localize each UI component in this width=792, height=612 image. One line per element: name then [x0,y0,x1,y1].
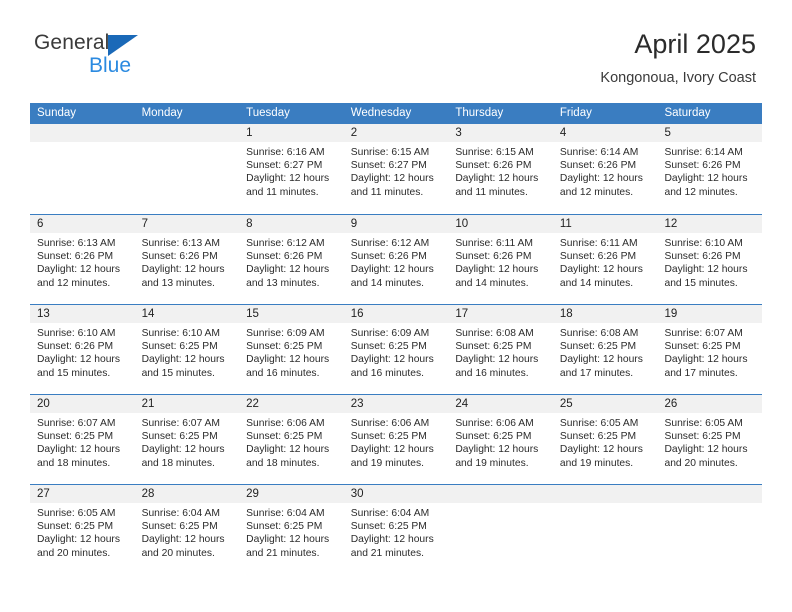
day-number: 6 [30,215,135,233]
sunrise-text: Sunrise: 6:15 AM [351,146,443,159]
day-sun-info: Sunrise: 6:04 AMSunset: 6:25 PMDaylight:… [239,503,344,560]
sunset-text: Sunset: 6:27 PM [351,159,443,172]
daylight-text-line2: and 14 minutes. [351,277,443,290]
sunset-text: Sunset: 6:25 PM [37,520,129,533]
daylight-text-line1: Daylight: 12 hours [664,443,756,456]
daylight-text-line2: and 20 minutes. [142,547,234,560]
day-number-band: 2 [344,124,449,142]
calendar-week-row: 20Sunrise: 6:07 AMSunset: 6:25 PMDayligh… [30,394,762,484]
calendar-day-cell-empty [448,485,553,574]
day-number: 13 [30,305,135,323]
daylight-text-line2: and 18 minutes. [246,457,338,470]
calendar-day-cell[interactable]: 30Sunrise: 6:04 AMSunset: 6:25 PMDayligh… [344,485,449,574]
sunset-text: Sunset: 6:26 PM [664,159,756,172]
day-number: 10 [448,215,553,233]
daylight-text-line2: and 16 minutes. [246,367,338,380]
daylight-text-line2: and 19 minutes. [455,457,547,470]
sunrise-text: Sunrise: 6:07 AM [142,417,234,430]
weekday-header-tuesday: Tuesday [239,103,344,124]
day-sun-info: Sunrise: 6:16 AMSunset: 6:27 PMDaylight:… [239,142,344,199]
calendar-day-cell[interactable]: 24Sunrise: 6:06 AMSunset: 6:25 PMDayligh… [448,395,553,484]
sunset-text: Sunset: 6:25 PM [455,430,547,443]
calendar-day-cell[interactable]: 8Sunrise: 6:12 AMSunset: 6:26 PMDaylight… [239,215,344,304]
day-sun-info: Sunrise: 6:11 AMSunset: 6:26 PMDaylight:… [448,233,553,290]
sunset-text: Sunset: 6:25 PM [455,340,547,353]
day-sun-info: Sunrise: 6:04 AMSunset: 6:25 PMDaylight:… [135,503,240,560]
calendar-day-cell[interactable]: 22Sunrise: 6:06 AMSunset: 6:25 PMDayligh… [239,395,344,484]
day-sun-info: Sunrise: 6:05 AMSunset: 6:25 PMDaylight:… [30,503,135,560]
sunset-text: Sunset: 6:26 PM [664,250,756,263]
calendar-day-cell[interactable]: 14Sunrise: 6:10 AMSunset: 6:25 PMDayligh… [135,305,240,394]
day-number-band: 19 [657,305,762,323]
daylight-text-line2: and 13 minutes. [142,277,234,290]
day-sun-info: Sunrise: 6:15 AMSunset: 6:26 PMDaylight:… [448,142,553,199]
calendar-day-cell[interactable]: 28Sunrise: 6:04 AMSunset: 6:25 PMDayligh… [135,485,240,574]
day-sun-info: Sunrise: 6:07 AMSunset: 6:25 PMDaylight:… [657,323,762,380]
sunrise-text: Sunrise: 6:08 AM [455,327,547,340]
day-number-band: 15 [239,305,344,323]
day-number-band [135,124,240,142]
sunset-text: Sunset: 6:25 PM [560,430,652,443]
day-number: 25 [553,395,658,413]
sunrise-text: Sunrise: 6:05 AM [560,417,652,430]
day-sun-info: Sunrise: 6:14 AMSunset: 6:26 PMDaylight:… [657,142,762,199]
calendar-grid: Sunday Monday Tuesday Wednesday Thursday… [30,103,762,574]
daylight-text-line1: Daylight: 12 hours [455,443,547,456]
sunrise-text: Sunrise: 6:10 AM [664,237,756,250]
day-number-band [30,124,135,142]
day-number: 29 [239,485,344,503]
daylight-text-line1: Daylight: 12 hours [142,353,234,366]
day-number-band: 18 [553,305,658,323]
daylight-text-line1: Daylight: 12 hours [246,533,338,546]
daylight-text-line2: and 20 minutes. [664,457,756,470]
daylight-text-line2: and 15 minutes. [37,367,129,380]
sunrise-text: Sunrise: 6:10 AM [142,327,234,340]
calendar-day-cell[interactable]: 3Sunrise: 6:15 AMSunset: 6:26 PMDaylight… [448,124,553,214]
day-sun-info: Sunrise: 6:13 AMSunset: 6:26 PMDaylight:… [30,233,135,290]
calendar-day-cell[interactable]: 1Sunrise: 6:16 AMSunset: 6:27 PMDaylight… [239,124,344,214]
sunset-text: Sunset: 6:26 PM [246,250,338,263]
day-number-band: 29 [239,485,344,503]
sunset-text: Sunset: 6:26 PM [455,159,547,172]
weekday-header-thursday: Thursday [448,103,553,124]
daylight-text-line2: and 15 minutes. [142,367,234,380]
day-sun-info: Sunrise: 6:11 AMSunset: 6:26 PMDaylight:… [553,233,658,290]
daylight-text-line1: Daylight: 12 hours [142,263,234,276]
sunset-text: Sunset: 6:26 PM [37,340,129,353]
day-sun-info: Sunrise: 6:10 AMSunset: 6:25 PMDaylight:… [135,323,240,380]
sunset-text: Sunset: 6:26 PM [455,250,547,263]
page-title: April 2025 [600,28,756,60]
title-block: April 2025 Kongonoua, Ivory Coast [600,28,756,88]
day-number: 2 [344,124,449,142]
sunrise-text: Sunrise: 6:14 AM [560,146,652,159]
day-number: 19 [657,305,762,323]
calendar-weeks: 1Sunrise: 6:16 AMSunset: 6:27 PMDaylight… [30,124,762,574]
calendar-page: General Blue April 2025 Kongonoua, Ivory… [0,0,792,612]
daylight-text-line1: Daylight: 12 hours [664,172,756,185]
logo-triangle-icon [108,35,138,56]
sunset-text: Sunset: 6:25 PM [246,430,338,443]
daylight-text-line1: Daylight: 12 hours [455,353,547,366]
day-number: 11 [553,215,658,233]
day-sun-info: Sunrise: 6:06 AMSunset: 6:25 PMDaylight:… [239,413,344,470]
daylight-text-line1: Daylight: 12 hours [246,443,338,456]
sunset-text: Sunset: 6:25 PM [142,520,234,533]
daylight-text-line1: Daylight: 12 hours [246,172,338,185]
sunset-text: Sunset: 6:25 PM [351,430,443,443]
sunset-text: Sunset: 6:25 PM [351,520,443,533]
daylight-text-line2: and 19 minutes. [351,457,443,470]
sunrise-text: Sunrise: 6:07 AM [37,417,129,430]
day-sun-info: Sunrise: 6:12 AMSunset: 6:26 PMDaylight:… [239,233,344,290]
sunset-text: Sunset: 6:26 PM [351,250,443,263]
daylight-text-line1: Daylight: 12 hours [142,443,234,456]
daylight-text-line1: Daylight: 12 hours [351,172,443,185]
daylight-text-line1: Daylight: 12 hours [455,172,547,185]
sunrise-text: Sunrise: 6:04 AM [246,507,338,520]
day-number-band: 17 [448,305,553,323]
day-number-band: 26 [657,395,762,413]
calendar-day-cell[interactable]: 9Sunrise: 6:12 AMSunset: 6:26 PMDaylight… [344,215,449,304]
sunrise-text: Sunrise: 6:09 AM [351,327,443,340]
daylight-text-line1: Daylight: 12 hours [560,443,652,456]
daylight-text-line2: and 14 minutes. [455,277,547,290]
weekday-header-monday: Monday [135,103,240,124]
day-number-band: 16 [344,305,449,323]
sunset-text: Sunset: 6:25 PM [246,340,338,353]
day-number: 5 [657,124,762,142]
sunrise-text: Sunrise: 6:05 AM [37,507,129,520]
daylight-text-line2: and 17 minutes. [560,367,652,380]
day-number-band: 28 [135,485,240,503]
day-number-band: 23 [344,395,449,413]
day-number-band: 9 [344,215,449,233]
daylight-text-line1: Daylight: 12 hours [351,443,443,456]
daylight-text-line2: and 14 minutes. [560,277,652,290]
daylight-text-line1: Daylight: 12 hours [560,263,652,276]
calendar-day-cell[interactable]: 4Sunrise: 6:14 AMSunset: 6:26 PMDaylight… [553,124,658,214]
sunrise-text: Sunrise: 6:07 AM [664,327,756,340]
calendar-day-cell[interactable]: 20Sunrise: 6:07 AMSunset: 6:25 PMDayligh… [30,395,135,484]
daylight-text-line1: Daylight: 12 hours [37,263,129,276]
daylight-text-line2: and 13 minutes. [246,277,338,290]
day-number-band: 22 [239,395,344,413]
location-subtitle: Kongonoua, Ivory Coast [600,68,756,88]
sunset-text: Sunset: 6:26 PM [560,159,652,172]
calendar-week-row: 1Sunrise: 6:16 AMSunset: 6:27 PMDaylight… [30,124,762,214]
day-number-band: 27 [30,485,135,503]
day-number-band: 10 [448,215,553,233]
sunrise-text: Sunrise: 6:06 AM [351,417,443,430]
day-number: 18 [553,305,658,323]
daylight-text-line1: Daylight: 12 hours [246,353,338,366]
calendar-day-cell[interactable]: 23Sunrise: 6:06 AMSunset: 6:25 PMDayligh… [344,395,449,484]
daylight-text-line1: Daylight: 12 hours [664,353,756,366]
calendar-day-cell[interactable]: 25Sunrise: 6:05 AMSunset: 6:25 PMDayligh… [553,395,658,484]
sunrise-text: Sunrise: 6:04 AM [142,507,234,520]
day-number-band: 30 [344,485,449,503]
day-number: 12 [657,215,762,233]
day-number: 8 [239,215,344,233]
general-blue-logo[interactable]: General Blue [34,31,164,83]
day-sun-info: Sunrise: 6:04 AMSunset: 6:25 PMDaylight:… [344,503,449,560]
day-sun-info: Sunrise: 6:13 AMSunset: 6:26 PMDaylight:… [135,233,240,290]
sunset-text: Sunset: 6:26 PM [560,250,652,263]
daylight-text-line2: and 21 minutes. [246,547,338,560]
daylight-text-line1: Daylight: 12 hours [351,353,443,366]
day-number-band: 7 [135,215,240,233]
day-number-band: 3 [448,124,553,142]
sunrise-text: Sunrise: 6:10 AM [37,327,129,340]
daylight-text-line1: Daylight: 12 hours [560,353,652,366]
day-sun-info: Sunrise: 6:09 AMSunset: 6:25 PMDaylight:… [239,323,344,380]
calendar-day-cell[interactable]: 15Sunrise: 6:09 AMSunset: 6:25 PMDayligh… [239,305,344,394]
weekday-header-row: Sunday Monday Tuesday Wednesday Thursday… [30,103,762,124]
calendar-day-cell[interactable]: 18Sunrise: 6:08 AMSunset: 6:25 PMDayligh… [553,305,658,394]
day-number-band: 14 [135,305,240,323]
daylight-text-line2: and 15 minutes. [664,277,756,290]
day-number: 14 [135,305,240,323]
day-number: 22 [239,395,344,413]
daylight-text-line1: Daylight: 12 hours [664,263,756,276]
day-sun-info: Sunrise: 6:12 AMSunset: 6:26 PMDaylight:… [344,233,449,290]
day-number: 3 [448,124,553,142]
daylight-text-line2: and 11 minutes. [455,186,547,199]
day-number: 7 [135,215,240,233]
calendar-day-cell[interactable]: 27Sunrise: 6:05 AMSunset: 6:25 PMDayligh… [30,485,135,574]
calendar-day-cell-empty [657,485,762,574]
day-sun-info: Sunrise: 6:07 AMSunset: 6:25 PMDaylight:… [30,413,135,470]
sunrise-text: Sunrise: 6:04 AM [351,507,443,520]
day-sun-info: Sunrise: 6:14 AMSunset: 6:26 PMDaylight:… [553,142,658,199]
weekday-header-wednesday: Wednesday [344,103,449,124]
daylight-text-line2: and 11 minutes. [246,186,338,199]
sunset-text: Sunset: 6:27 PM [246,159,338,172]
calendar-day-cell[interactable]: 21Sunrise: 6:07 AMSunset: 6:25 PMDayligh… [135,395,240,484]
calendar-day-cell[interactable]: 29Sunrise: 6:04 AMSunset: 6:25 PMDayligh… [239,485,344,574]
logo-text-blue: Blue [89,54,131,78]
sunset-text: Sunset: 6:26 PM [37,250,129,263]
day-number-band: 12 [657,215,762,233]
calendar-day-cell[interactable]: 13Sunrise: 6:10 AMSunset: 6:26 PMDayligh… [30,305,135,394]
weekday-header-saturday: Saturday [657,103,762,124]
day-number-band: 4 [553,124,658,142]
sunrise-text: Sunrise: 6:08 AM [560,327,652,340]
calendar-week-row: 27Sunrise: 6:05 AMSunset: 6:25 PMDayligh… [30,484,762,574]
day-number-band: 5 [657,124,762,142]
day-number-band: 24 [448,395,553,413]
sunrise-text: Sunrise: 6:12 AM [246,237,338,250]
day-number: 9 [344,215,449,233]
day-number: 1 [239,124,344,142]
day-sun-info: Sunrise: 6:07 AMSunset: 6:25 PMDaylight:… [135,413,240,470]
sunset-text: Sunset: 6:25 PM [142,430,234,443]
daylight-text-line2: and 12 minutes. [37,277,129,290]
daylight-text-line2: and 12 minutes. [560,186,652,199]
day-number: 17 [448,305,553,323]
page-header: General Blue April 2025 Kongonoua, Ivory… [0,0,792,100]
calendar-day-cell[interactable]: 5Sunrise: 6:14 AMSunset: 6:26 PMDaylight… [657,124,762,214]
daylight-text-line1: Daylight: 12 hours [455,263,547,276]
sunrise-text: Sunrise: 6:13 AM [142,237,234,250]
sunrise-text: Sunrise: 6:16 AM [246,146,338,159]
daylight-text-line1: Daylight: 12 hours [37,353,129,366]
day-number-band: 25 [553,395,658,413]
day-number: 21 [135,395,240,413]
day-number-band: 8 [239,215,344,233]
calendar-day-cell[interactable]: 19Sunrise: 6:07 AMSunset: 6:25 PMDayligh… [657,305,762,394]
day-number-band [448,485,553,503]
sunrise-text: Sunrise: 6:06 AM [246,417,338,430]
calendar-day-cell[interactable]: 12Sunrise: 6:10 AMSunset: 6:26 PMDayligh… [657,215,762,304]
sunset-text: Sunset: 6:25 PM [351,340,443,353]
calendar-day-cell[interactable]: 11Sunrise: 6:11 AMSunset: 6:26 PMDayligh… [553,215,658,304]
daylight-text-line2: and 16 minutes. [455,367,547,380]
day-number-band: 11 [553,215,658,233]
day-sun-info: Sunrise: 6:05 AMSunset: 6:25 PMDaylight:… [657,413,762,470]
sunset-text: Sunset: 6:25 PM [37,430,129,443]
day-sun-info: Sunrise: 6:08 AMSunset: 6:25 PMDaylight:… [448,323,553,380]
daylight-text-line2: and 16 minutes. [351,367,443,380]
calendar-day-cell[interactable]: 10Sunrise: 6:11 AMSunset: 6:26 PMDayligh… [448,215,553,304]
sunrise-text: Sunrise: 6:12 AM [351,237,443,250]
day-number-band: 6 [30,215,135,233]
daylight-text-line2: and 20 minutes. [37,547,129,560]
day-number-band [553,485,658,503]
sunrise-text: Sunrise: 6:09 AM [246,327,338,340]
daylight-text-line2: and 18 minutes. [37,457,129,470]
day-sun-info: Sunrise: 6:10 AMSunset: 6:26 PMDaylight:… [30,323,135,380]
logo-text-general: General [34,31,109,55]
calendar-day-cell[interactable]: 2Sunrise: 6:15 AMSunset: 6:27 PMDaylight… [344,124,449,214]
sunset-text: Sunset: 6:25 PM [142,340,234,353]
calendar-week-row: 6Sunrise: 6:13 AMSunset: 6:26 PMDaylight… [30,214,762,304]
calendar-day-cell[interactable]: 6Sunrise: 6:13 AMSunset: 6:26 PMDaylight… [30,215,135,304]
calendar-day-cell-empty [30,124,135,214]
sunset-text: Sunset: 6:25 PM [560,340,652,353]
sunrise-text: Sunrise: 6:15 AM [455,146,547,159]
day-number: 20 [30,395,135,413]
calendar-day-cell-empty [135,124,240,214]
calendar-day-cell-empty [553,485,658,574]
day-number: 28 [135,485,240,503]
daylight-text-line1: Daylight: 12 hours [37,443,129,456]
day-sun-info: Sunrise: 6:09 AMSunset: 6:25 PMDaylight:… [344,323,449,380]
calendar-week-row: 13Sunrise: 6:10 AMSunset: 6:26 PMDayligh… [30,304,762,394]
weekday-header-friday: Friday [553,103,658,124]
day-number: 16 [344,305,449,323]
daylight-text-line1: Daylight: 12 hours [142,533,234,546]
sunrise-text: Sunrise: 6:13 AM [37,237,129,250]
day-number: 24 [448,395,553,413]
calendar-day-cell[interactable]: 17Sunrise: 6:08 AMSunset: 6:25 PMDayligh… [448,305,553,394]
sunset-text: Sunset: 6:25 PM [664,340,756,353]
sunset-text: Sunset: 6:26 PM [142,250,234,263]
day-number: 23 [344,395,449,413]
daylight-text-line2: and 21 minutes. [351,547,443,560]
daylight-text-line2: and 19 minutes. [560,457,652,470]
day-number: 26 [657,395,762,413]
day-sun-info: Sunrise: 6:15 AMSunset: 6:27 PMDaylight:… [344,142,449,199]
calendar-day-cell[interactable]: 26Sunrise: 6:05 AMSunset: 6:25 PMDayligh… [657,395,762,484]
sunrise-text: Sunrise: 6:11 AM [455,237,547,250]
sunrise-text: Sunrise: 6:05 AM [664,417,756,430]
daylight-text-line2: and 12 minutes. [664,186,756,199]
day-sun-info: Sunrise: 6:08 AMSunset: 6:25 PMDaylight:… [553,323,658,380]
day-number-band: 20 [30,395,135,413]
day-number: 15 [239,305,344,323]
day-sun-info: Sunrise: 6:06 AMSunset: 6:25 PMDaylight:… [448,413,553,470]
calendar-day-cell[interactable]: 7Sunrise: 6:13 AMSunset: 6:26 PMDaylight… [135,215,240,304]
sunrise-text: Sunrise: 6:14 AM [664,146,756,159]
sunrise-text: Sunrise: 6:11 AM [560,237,652,250]
daylight-text-line2: and 18 minutes. [142,457,234,470]
day-sun-info: Sunrise: 6:10 AMSunset: 6:26 PMDaylight:… [657,233,762,290]
daylight-text-line1: Daylight: 12 hours [351,263,443,276]
day-sun-info: Sunrise: 6:06 AMSunset: 6:25 PMDaylight:… [344,413,449,470]
daylight-text-line1: Daylight: 12 hours [351,533,443,546]
daylight-text-line1: Daylight: 12 hours [560,172,652,185]
day-number: 4 [553,124,658,142]
sunrise-text: Sunrise: 6:06 AM [455,417,547,430]
daylight-text-line1: Daylight: 12 hours [37,533,129,546]
day-number: 30 [344,485,449,503]
daylight-text-line1: Daylight: 12 hours [246,263,338,276]
day-number-band: 13 [30,305,135,323]
sunset-text: Sunset: 6:25 PM [664,430,756,443]
daylight-text-line2: and 17 minutes. [664,367,756,380]
weekday-header-sunday: Sunday [30,103,135,124]
sunset-text: Sunset: 6:25 PM [246,520,338,533]
day-sun-info: Sunrise: 6:05 AMSunset: 6:25 PMDaylight:… [553,413,658,470]
calendar-day-cell[interactable]: 16Sunrise: 6:09 AMSunset: 6:25 PMDayligh… [344,305,449,394]
day-number-band: 1 [239,124,344,142]
day-number-band [657,485,762,503]
daylight-text-line2: and 11 minutes. [351,186,443,199]
day-number-band: 21 [135,395,240,413]
day-number: 27 [30,485,135,503]
